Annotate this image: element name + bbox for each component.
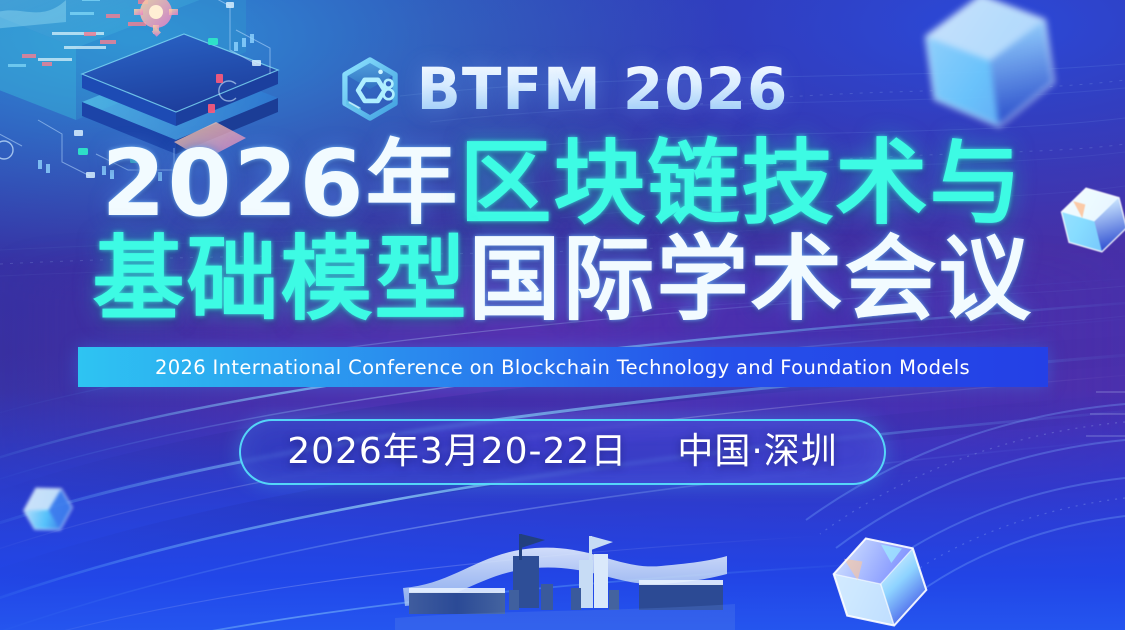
title-line2-part1: 基础模型 [92, 226, 468, 333]
logo-text: BTFM 2026 [417, 60, 789, 118]
subtitle-bar: 2026 International Conference on Blockch… [78, 347, 1048, 387]
date-location-pill: 2026年3月20-22日 中国·深圳 [239, 419, 886, 485]
title-line1-part2: 区块链技术与 [460, 130, 1024, 237]
title-line1-part1: 2026年 [101, 130, 459, 237]
hexagon-cube-node-logo-icon [337, 56, 403, 122]
page-title: 2026年区块链技术与 基础模型国际学术会议 [92, 136, 1032, 327]
title-line-1: 2026年区块链技术与 [92, 136, 1032, 232]
conference-location: 中国·深圳 [677, 434, 837, 470]
banner-content: BTFM 2026 2026年区块链技术与 基础模型国际学术会议 2026 In… [0, 0, 1125, 630]
title-line-2: 基础模型国际学术会议 [92, 232, 1032, 328]
subtitle-text: 2026 International Conference on Blockch… [155, 356, 970, 379]
title-line2-part2: 国际学术会议 [469, 226, 1033, 333]
brand-lockup: BTFM 2026 [337, 56, 789, 122]
conference-banner: BTFM 2026 2026年区块链技术与 基础模型国际学术会议 2026 In… [0, 0, 1125, 630]
conference-date: 2026年3月20-22日 [287, 434, 627, 470]
